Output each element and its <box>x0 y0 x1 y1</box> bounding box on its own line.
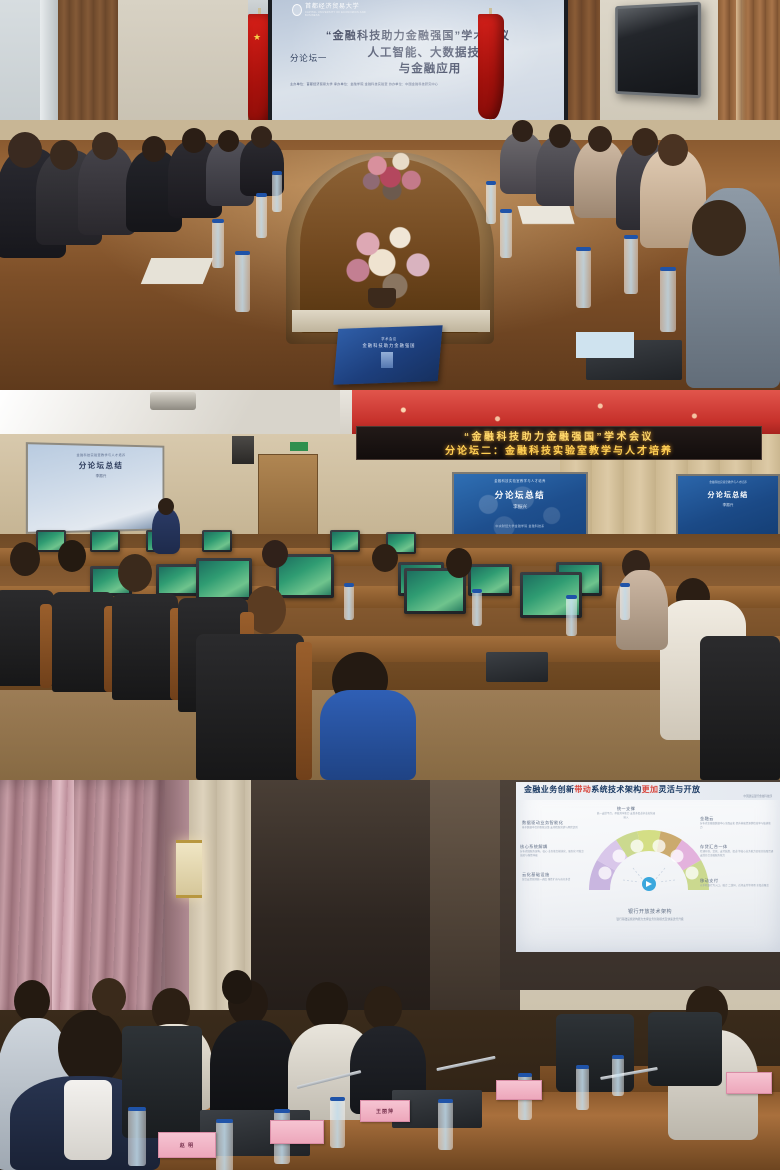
water-bottle <box>344 586 354 620</box>
screen-right-header: 金融科技实验室教学与人才培养 <box>684 480 772 484</box>
document-paper <box>576 332 634 358</box>
national-flag-right-icon <box>478 14 504 119</box>
slide-title-part5: 灵活与开放 <box>658 785 700 794</box>
attendee-head <box>262 540 288 568</box>
fan-icon-node <box>653 840 666 853</box>
attendee-head <box>632 128 658 156</box>
lab-monitor-screen <box>204 532 230 550</box>
fan-label-body: 统一支撑平台，承载共享能力 支撑多渠道多业态快速接入 <box>596 812 656 821</box>
attendee-head <box>306 982 348 1030</box>
photo-collage: 首都经济贸易大学 CAPITAL UNIVERSITY OF ECONOMICS… <box>0 0 780 1170</box>
attendee-head <box>218 130 239 152</box>
fan-diagram <box>584 818 714 888</box>
fan-label-body: 分布式金融级数据中心全面云化 提升基础资源供给效率与敏捷能力 <box>700 822 772 831</box>
photo-panel-seminar-room: 金融业务创新带动系统技术架构更加灵活与开放 中国建设银行金融科技部 <box>0 780 780 1170</box>
exit-sign <box>290 442 308 451</box>
name-placard <box>270 1120 324 1144</box>
attendee-head <box>364 986 402 1030</box>
fan-label-group-0: 统一支撑 统一支撑平台，承载共享能力 支撑多渠道多业态快速接入 <box>596 806 656 821</box>
attendee-head <box>8 132 42 168</box>
water-bottle <box>500 212 512 258</box>
ceiling-speaker <box>232 436 254 464</box>
water-bottle <box>438 1102 453 1150</box>
fan-label-body: 混合云资源池统一调度 弹性扩容与容灾多活 <box>522 878 586 882</box>
screen-right-title: 分论坛总结 <box>684 490 772 500</box>
curtain-highlight-strip <box>52 780 74 1020</box>
water-bottle <box>620 586 630 620</box>
attendee-head <box>692 200 746 256</box>
attendee-head <box>512 120 533 142</box>
led-banner-line1: “金融科技助力金融强国”学术会议 <box>360 428 758 443</box>
fan-label-body: 基于数据中台的智能决策 支持精准营销与风险识别 <box>522 826 586 830</box>
photo-panel-computer-lab: “金融科技助力金融强国”学术会议 分论坛二：金融科技实验室教学与人才培养 金融科… <box>0 390 780 780</box>
water-bottle <box>212 222 224 268</box>
fan-icon-node <box>599 867 612 880</box>
water-bottle <box>235 254 250 312</box>
fan-diagram-svg <box>584 818 714 892</box>
attendee-head <box>118 554 152 592</box>
wall-mounted-tv <box>615 2 701 99</box>
screen-glare <box>272 0 564 120</box>
name-placard: 王丽萍 <box>360 1100 410 1122</box>
attendee-head <box>50 140 78 170</box>
screen-center-affiliation: 中央财经大学金融学院 金融科技系 <box>466 524 574 528</box>
name-placard: 赵 明 <box>158 1132 216 1158</box>
fan-label-body: 以手机银行为入口，融合 二维码、近场支付等场景 全渠道覆盖 <box>700 884 772 888</box>
screen-left-title: 分论坛总结 <box>52 460 150 471</box>
attendee-head <box>658 134 688 166</box>
photo-panel-conference-room: 首都经济贸易大学 CAPITAL UNIVERSITY OF ECONOMICS… <box>0 0 780 390</box>
lab-chair <box>700 636 780 780</box>
slide-corner-note: 中国建设银行金融科技部 <box>710 794 772 798</box>
fan-label-body: 打通存款、贷款、支付结算、渠道 等核心业务能力实现全链路贯通 支撑综合金融服务能… <box>700 850 774 859</box>
name-placard <box>496 1080 542 1100</box>
lab-chair-frame <box>296 642 312 780</box>
wooden-door <box>258 454 318 536</box>
attendee-head <box>10 542 40 576</box>
fan-center-label: 银行开放技术架构 <box>596 908 704 915</box>
attendee-head <box>58 540 86 572</box>
attendee-head <box>58 1010 124 1086</box>
led-banner-line2: 分论坛二：金融科技实验室教学与人才培养 <box>360 442 758 457</box>
slide-title-part2: 带动 <box>574 785 591 794</box>
attendee-head <box>446 548 472 578</box>
water-bottle <box>566 598 577 636</box>
lab-monitor-screen <box>279 557 331 595</box>
seminar-chair <box>648 1012 722 1086</box>
screen-center-header: 金融科技实验室教学与人才培养 <box>468 478 572 483</box>
screen-left-header: 金融科技实验室教学与人才培养 <box>58 452 144 457</box>
ceiling-projector <box>150 392 196 410</box>
fan-label-group-2: 核心系统解耦 分布式微服务架构，核心 业务能力模块化、服务化 可独立演进与弹性伸… <box>520 844 584 859</box>
wall-sconce-light <box>176 840 202 898</box>
flower-vase <box>368 288 396 308</box>
water-bottle <box>576 1068 589 1110</box>
booklet-line2: 金融科技助力金融强国 <box>348 343 430 349</box>
presenter-head <box>158 498 174 515</box>
slide-title-part3: 系统技术架构 <box>591 785 641 794</box>
lab-monitor-screen <box>199 561 249 597</box>
water-bottle <box>660 270 676 332</box>
fan-label-group-1: 数据驱动业务智能化 基于数据中台的智能决策 支持精准营销与风险识别 <box>522 820 586 830</box>
lab-monitor-screen <box>332 532 358 550</box>
screen-right-presenter: 李振兴 <box>684 503 772 508</box>
fan-label-group-6: 移动支付 以手机银行为入口，融合 二维码、近场支付等场景 全渠道覆盖 <box>700 878 772 888</box>
name-placard <box>726 1072 772 1094</box>
water-bottle <box>612 1058 624 1096</box>
water-bottle <box>216 1122 233 1170</box>
slide-title-part4: 更加 <box>642 785 659 794</box>
water-bottle <box>330 1100 345 1148</box>
attendee-shirt <box>64 1080 112 1160</box>
attendee-head <box>92 978 126 1016</box>
floral-arrangement-back <box>355 150 429 202</box>
attendee-head <box>142 136 166 162</box>
attendee-head <box>372 544 398 572</box>
attendee-head <box>222 970 252 1004</box>
fan-icon-node <box>613 850 626 863</box>
attendee-body <box>320 690 416 780</box>
left-stone-panel <box>118 0 248 140</box>
fan-label-group-4: 金融云 分布式金融级数据中心全面云化 提升基础资源供给效率与敏捷能力 <box>700 816 772 831</box>
booklet-emblem-icon <box>381 352 393 368</box>
document-paper <box>517 206 574 224</box>
attendee-head <box>92 132 118 160</box>
left-wood-wall <box>58 0 118 140</box>
water-bottle <box>256 196 267 238</box>
attendee-head <box>251 126 272 148</box>
fan-icon-node <box>671 850 684 863</box>
screen-left-presenter: 李振兴 <box>58 474 144 479</box>
water-bottle <box>624 238 638 294</box>
fan-label-body: 分布式微服务架构，核心 业务能力模块化、服务化 可独立演进与弹性伸缩 <box>520 850 584 859</box>
screen-center-presenter: 李振兴 <box>470 504 570 510</box>
water-bottle <box>486 184 496 224</box>
lab-monitor-screen <box>159 567 197 593</box>
attendee-body <box>210 1020 296 1120</box>
fan-icon-node <box>631 840 644 853</box>
attendee-head <box>182 128 206 153</box>
water-bottle <box>576 250 591 308</box>
water-bottle <box>128 1110 146 1166</box>
booklet-line1: 学术会议 <box>352 336 426 341</box>
document-paper <box>141 258 214 284</box>
screen-center-title: 分论坛总结 <box>466 489 574 501</box>
slide-title-part1: 金融业务创新 <box>524 785 574 794</box>
water-bottle <box>272 174 282 212</box>
water-bottle <box>472 592 482 626</box>
attendee-head <box>549 124 571 148</box>
lab-chair-frame <box>40 604 52 688</box>
lab-monitor-screen <box>92 532 118 550</box>
fan-center-sublabel: 银行基础设施架构能力支撑业务创新模式及快速迭代升级 <box>586 917 714 921</box>
fan-label-group-3: 云化基础设施 混合云资源池统一调度 弹性扩容与容灾多活 <box>522 872 586 882</box>
lab-chair <box>196 634 304 780</box>
fan-label-group-5: 存贷汇合一体 打通存款、贷款、支付结算、渠道 等核心业务能力实现全链路贯通 支撑… <box>700 844 774 859</box>
attendee-head <box>14 980 50 1022</box>
laptop <box>486 652 548 682</box>
lab-chair <box>112 594 178 700</box>
fan-icon-node <box>686 867 699 880</box>
attendee-head <box>588 126 612 152</box>
